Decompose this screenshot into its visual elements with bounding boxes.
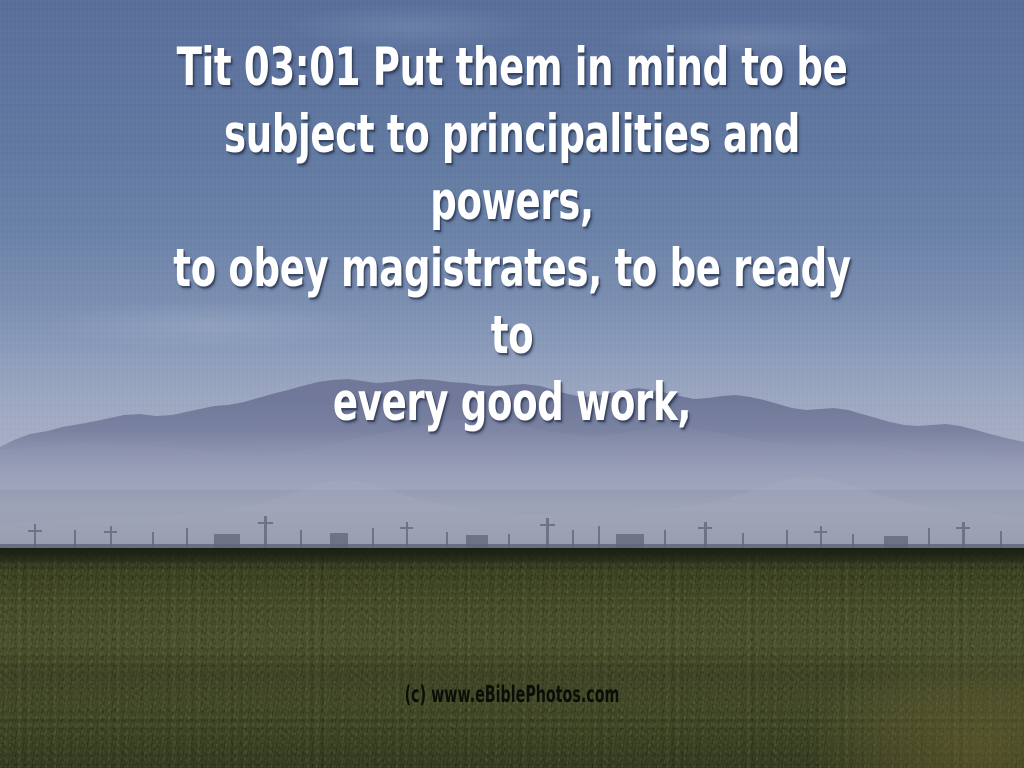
crop-texture-overlay <box>0 548 1024 768</box>
scripture-photo: Tit 03:01 Put them in mind to be subject… <box>0 0 1024 768</box>
sky-background <box>0 0 1024 560</box>
crop-texture-overlay-fine <box>0 548 1024 768</box>
farm-field <box>0 548 1024 768</box>
hedgerow-line <box>0 548 1024 564</box>
field-shadow-band <box>0 644 1024 704</box>
field-light-patch <box>814 648 1024 768</box>
